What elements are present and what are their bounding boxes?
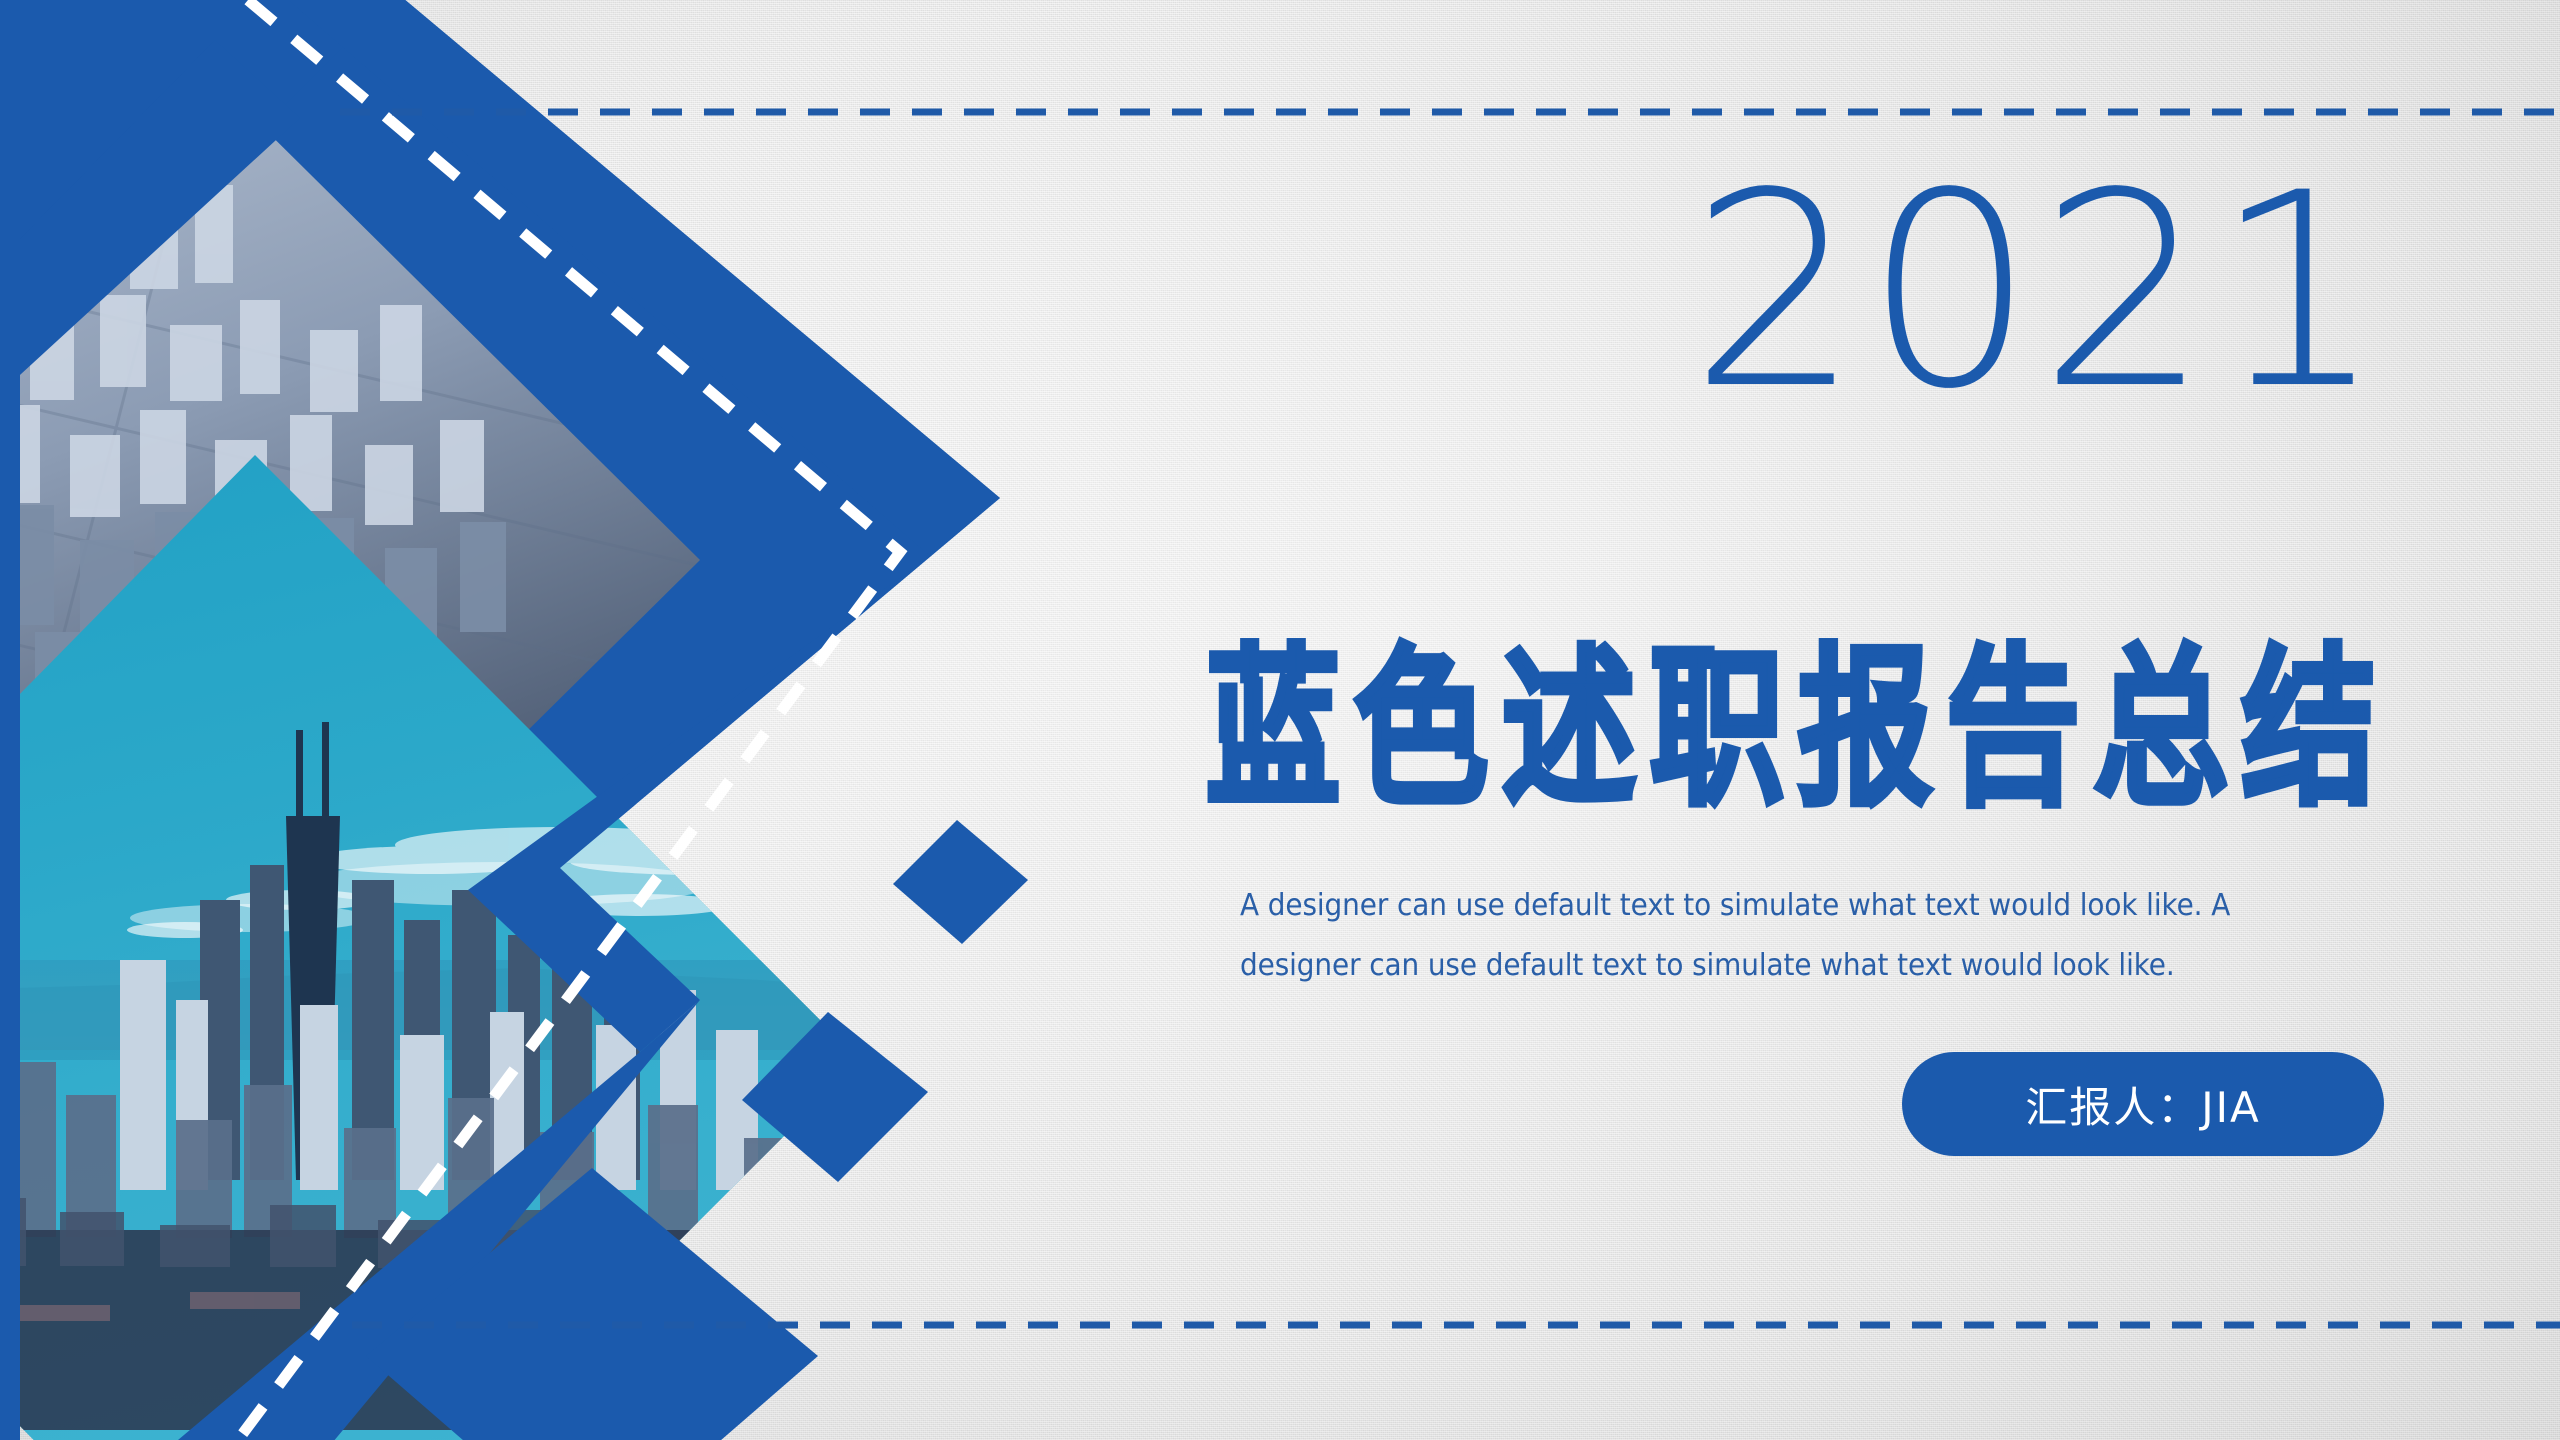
slide-text-content: 2021 蓝色述职报告总结 A designer can use default… <box>1040 0 2480 1440</box>
reporter-badge[interactable]: 汇报人：JIA <box>1902 1052 2384 1156</box>
subtitle-paragraph: A designer can use default text to simul… <box>1240 876 2310 996</box>
page-title: 蓝色述职报告总结 <box>1206 628 2390 830</box>
presentation-slide: 2021 蓝色述职报告总结 A designer can use default… <box>0 0 2560 1440</box>
reporter-badge-label: 汇报人：JIA <box>2025 1074 2261 1135</box>
small-blue-diamond <box>893 820 1028 944</box>
year-heading: 2021 <box>1690 158 2388 426</box>
